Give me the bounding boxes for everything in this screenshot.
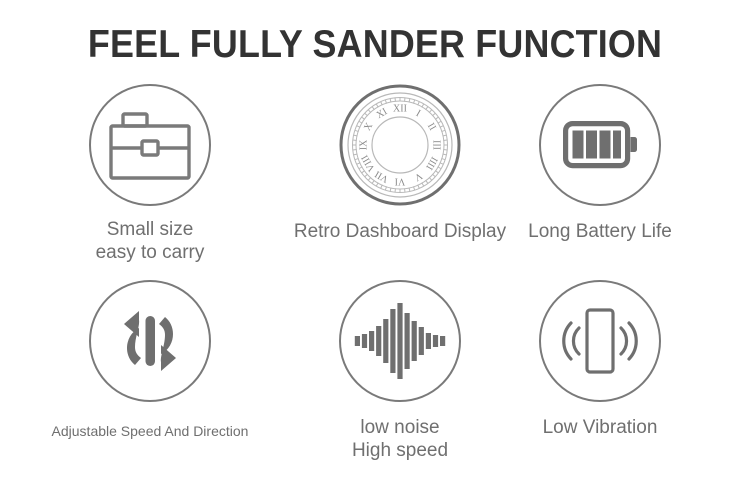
icon-circle <box>89 280 211 402</box>
feature-caption: Adjustable Speed And Direction <box>25 422 275 440</box>
feature-caption: Low Vibration <box>475 416 725 439</box>
clock-numeral: V <box>412 170 424 184</box>
waveform-bar <box>397 303 402 379</box>
waveform-bar <box>362 334 367 348</box>
clock-numeral: II <box>425 121 438 132</box>
waveform-icon <box>341 282 459 400</box>
feature-item-adjustable-speed[interactable]: Adjustable Speed And Direction <box>25 280 275 440</box>
clock-numeral: IX <box>358 139 369 150</box>
clock-numeral: VIII <box>360 153 378 173</box>
feature-item-low-vibration[interactable]: Low Vibration <box>475 280 725 439</box>
feature-item-long-battery-life[interactable]: Long Battery Life <box>475 84 725 243</box>
waveform-bar <box>376 326 381 356</box>
feature-item-small-size[interactable]: Small size easy to carry <box>25 84 275 264</box>
feature-grid: Small size easy to carry <box>0 84 750 497</box>
icon-circle <box>539 84 661 206</box>
waveform-bar <box>355 336 360 346</box>
waveform-bar <box>412 321 417 361</box>
waveform-bar <box>369 331 374 351</box>
battery-icon <box>541 86 659 204</box>
waveform-bar <box>419 327 424 355</box>
waveform-bar <box>390 309 395 373</box>
icon-circle <box>539 280 661 402</box>
clock-numeral: VI <box>395 176 406 187</box>
waveform-bar <box>433 335 438 347</box>
briefcase-icon <box>91 86 209 204</box>
clock-numeral: XII <box>393 103 407 114</box>
icon-circle <box>339 280 461 402</box>
clock-numeral: X <box>362 120 376 132</box>
waveform-bar <box>426 333 431 349</box>
page-title: FEEL FULLY SANDER FUNCTION <box>30 22 720 68</box>
vibration-icon <box>541 282 659 400</box>
waveform-bar <box>383 319 388 363</box>
feature-highlight-page: FEEL FULLY SANDER FUNCTION Small size ea… <box>0 0 750 497</box>
waveform-bar <box>440 336 445 346</box>
icon-circle: XIIIIIIIIIIIIVVIVIIVIIIIXXXI <box>339 84 461 206</box>
feature-caption: Small size easy to carry <box>25 218 275 264</box>
waveform-bar <box>405 313 410 369</box>
clock-dial-icon: XIIIIIIIIIIIIVVIVIIVIIIIXXXI <box>339 84 461 206</box>
feature-caption: Long Battery Life <box>475 220 725 243</box>
clock-numeral: I <box>414 108 422 119</box>
reverse-rotation-icon <box>91 282 209 400</box>
clock-numeral: XI <box>375 106 390 121</box>
icon-circle <box>89 84 211 206</box>
clock-numeral: III <box>431 140 442 150</box>
